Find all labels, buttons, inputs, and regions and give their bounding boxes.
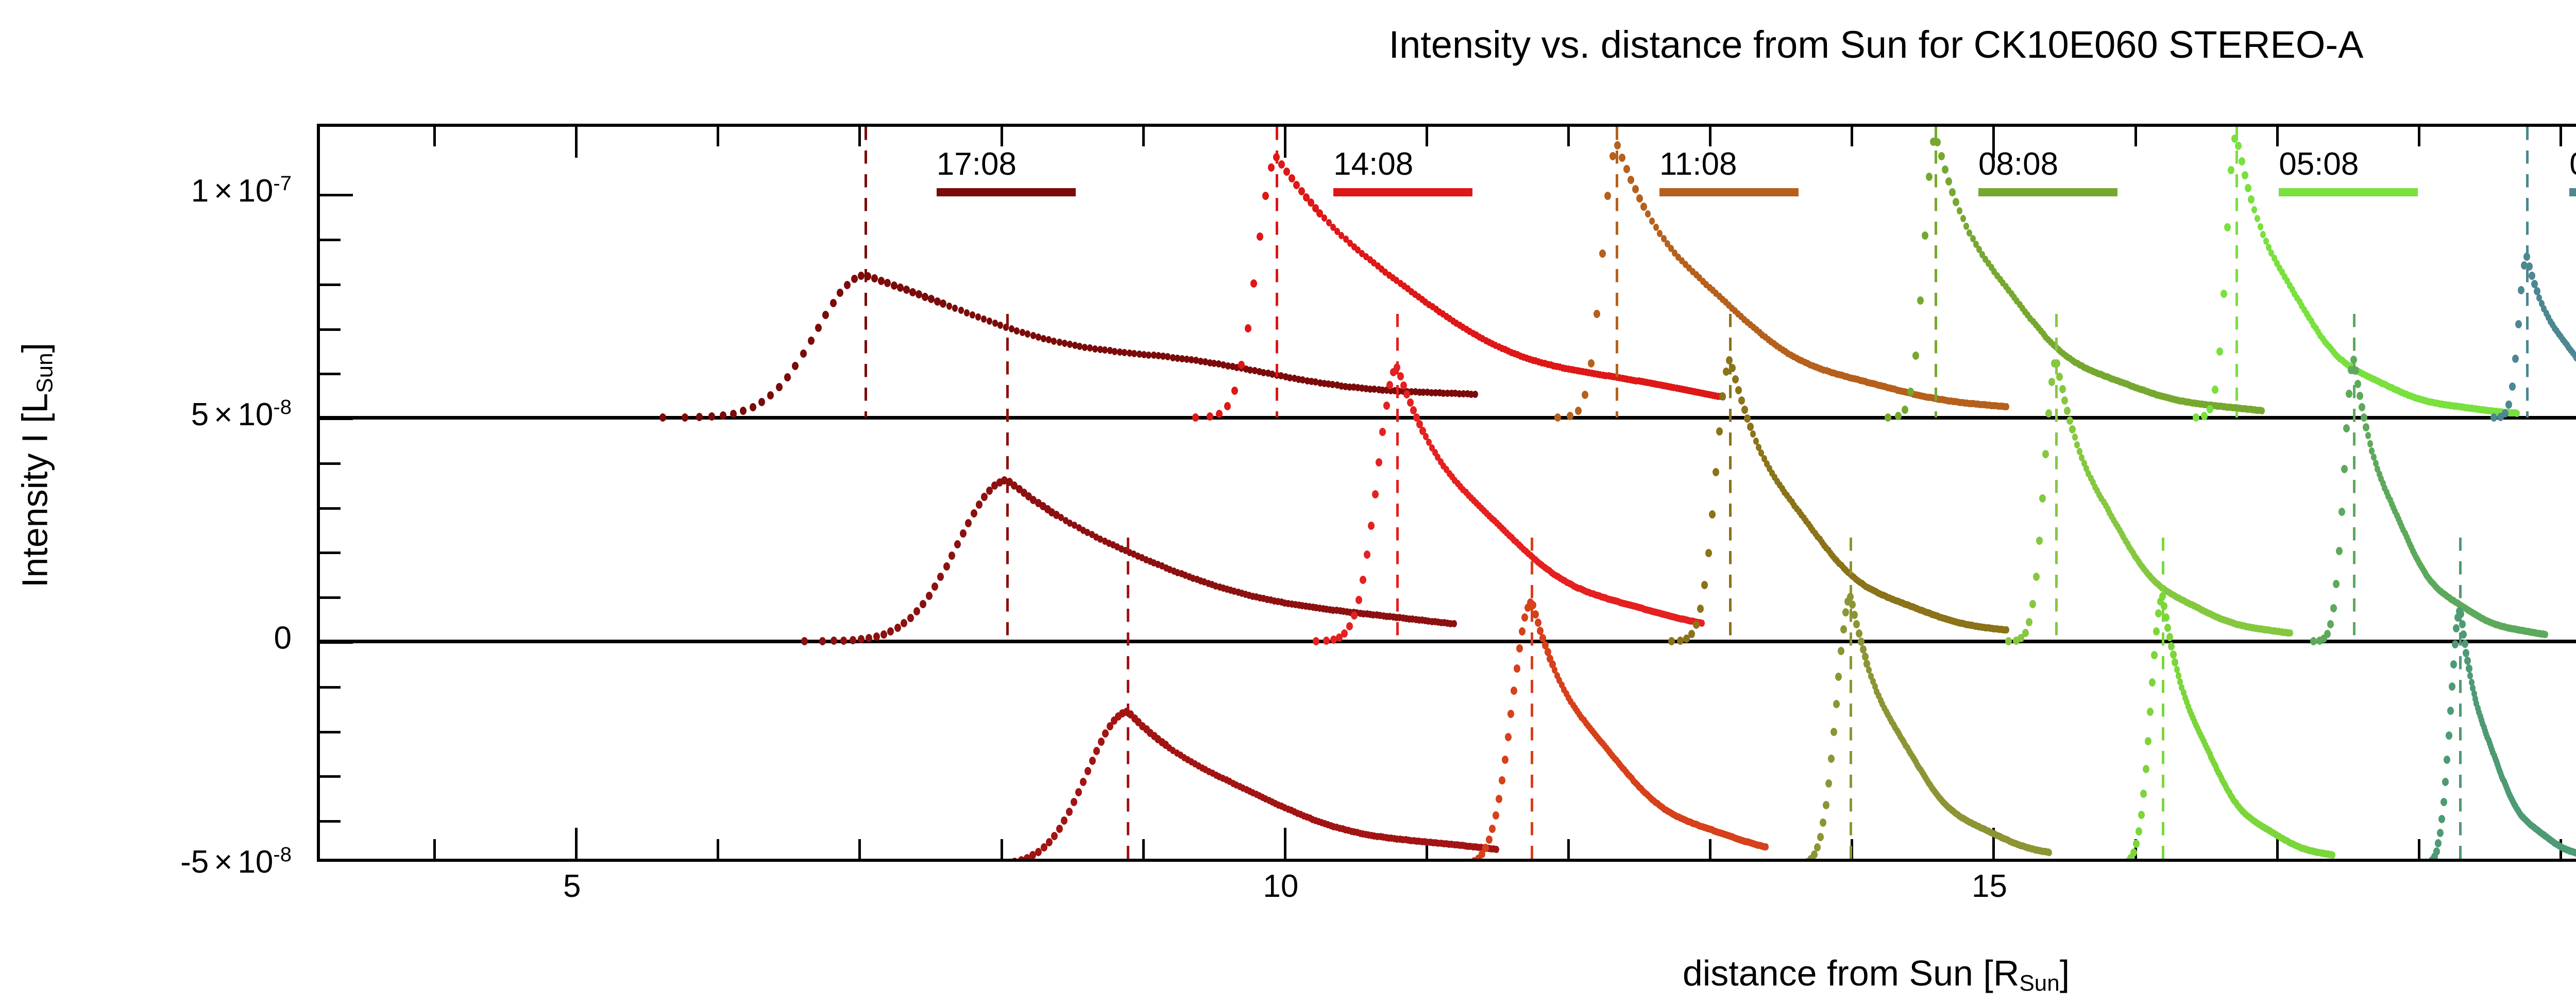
data-point <box>2259 407 2265 414</box>
data-point <box>1609 152 1616 160</box>
data-point <box>1885 413 1891 422</box>
data-point <box>913 607 920 615</box>
data-point <box>1505 733 1512 741</box>
event-label-time: 08:08 <box>1978 146 2058 182</box>
data-point <box>1537 627 1544 635</box>
event-label-underline <box>1333 188 1472 196</box>
data-point <box>907 614 914 622</box>
data-point <box>819 637 826 645</box>
data-point <box>1726 356 1733 364</box>
data-point <box>1953 198 1959 206</box>
data-point <box>1231 387 1238 395</box>
data-point <box>1360 576 1366 584</box>
data-point <box>2502 409 2509 417</box>
data-point <box>758 398 765 406</box>
y-minor-tick <box>320 775 341 778</box>
data-point <box>958 307 964 314</box>
data-point <box>1604 192 1611 200</box>
x-minor-tick-top <box>1851 127 1853 146</box>
data-point <box>2509 382 2516 391</box>
data-point <box>1716 427 1723 436</box>
x-major-tick <box>1284 828 1286 859</box>
data-point <box>2216 347 2223 356</box>
data-point <box>1747 423 1754 431</box>
data-point <box>2026 618 2032 626</box>
data-point <box>2066 416 2073 425</box>
data-point <box>2248 195 2255 204</box>
data-point <box>2427 859 2433 862</box>
data-point <box>2458 610 2464 618</box>
data-point <box>1535 619 1541 627</box>
data-point <box>1447 861 1454 862</box>
data-point <box>1649 218 1655 225</box>
data-point <box>1632 185 1639 193</box>
data-point <box>1554 413 1561 422</box>
data-point <box>2359 403 2365 411</box>
data-point <box>2255 215 2260 222</box>
data-point <box>1922 231 1928 240</box>
event-marker-line <box>1616 127 1618 417</box>
event-label-time: 17:08 <box>937 146 1016 182</box>
data-point <box>2523 253 2530 261</box>
data-point <box>1486 836 1493 844</box>
data-point <box>1089 757 1096 765</box>
data-point <box>2059 385 2066 393</box>
data-point <box>2346 390 2352 398</box>
event-label: 02:08 <box>2569 148 2576 180</box>
data-point <box>952 305 958 312</box>
y-major-tick <box>320 194 353 196</box>
data-point <box>2352 366 2359 375</box>
data-point <box>1840 625 1847 633</box>
data-point <box>1250 279 1257 288</box>
data-point <box>2133 840 2140 848</box>
x-minor-tick-top <box>2276 127 2279 146</box>
data-point <box>901 619 907 627</box>
data-point <box>1323 637 1330 645</box>
data-point <box>1507 710 1514 718</box>
data-point <box>991 860 997 862</box>
data-point <box>2153 627 2160 636</box>
data-point <box>822 311 829 319</box>
data-point <box>1496 795 1502 803</box>
data-point <box>931 582 938 591</box>
data-point <box>1709 510 1716 519</box>
data-point <box>1102 729 1109 738</box>
data-point <box>2022 629 2029 637</box>
data-point <box>2056 373 2063 381</box>
data-point <box>1934 138 1941 146</box>
data-point <box>1014 327 1020 335</box>
data-point <box>1093 747 1100 755</box>
x-axis-label: distance from Sun [RSun] <box>0 953 2576 996</box>
page-title: Intensity vs. distance from Sun for CK10… <box>0 23 2576 66</box>
data-point <box>2260 231 2266 238</box>
data-point <box>2111 861 2118 862</box>
data-point <box>2490 413 2497 422</box>
data-point <box>1949 188 1956 196</box>
data-point <box>865 272 871 280</box>
data-point <box>1397 372 1404 380</box>
data-point <box>2239 157 2245 165</box>
data-point <box>1907 388 1914 396</box>
data-point <box>1788 861 1795 862</box>
data-point <box>1494 846 1499 853</box>
event-label-underline <box>1978 188 2117 196</box>
data-point <box>1895 412 1902 420</box>
event-marker-line <box>1127 538 1129 862</box>
data-point <box>891 281 897 290</box>
data-point <box>2333 580 2340 588</box>
data-point <box>1493 811 1499 820</box>
data-point <box>970 311 975 319</box>
data-point <box>887 627 894 636</box>
data-point <box>1701 581 1708 589</box>
y-minor-tick <box>320 686 341 689</box>
data-point <box>1835 673 1842 681</box>
data-point <box>1025 330 1030 338</box>
data-point <box>2447 707 2454 715</box>
data-point <box>1519 627 1526 636</box>
data-point <box>1036 333 1041 341</box>
data-point <box>2069 425 2076 433</box>
data-point <box>2155 609 2162 617</box>
data-point <box>1820 819 1826 827</box>
x-minor-tick-top <box>2134 127 2137 146</box>
data-point <box>1051 338 1057 345</box>
x-minor-tick-top <box>1567 127 1570 146</box>
x-minor-tick <box>2418 839 2420 859</box>
data-point <box>1902 406 1908 414</box>
data-point <box>1594 310 1600 318</box>
data-point <box>2464 657 2471 665</box>
x-tick-label-group: 510152025 <box>317 868 2576 914</box>
data-point <box>1511 687 1517 695</box>
data-point <box>2207 405 2213 413</box>
data-point <box>1833 700 1840 708</box>
data-point <box>992 320 998 327</box>
x-minor-tick-top <box>858 127 861 146</box>
data-point <box>730 410 737 418</box>
data-point <box>2221 290 2227 298</box>
data-point <box>792 362 799 370</box>
chart-root: Intensity vs. distance from Sun for CK10… <box>0 0 2576 1002</box>
data-point <box>897 283 904 292</box>
data-point <box>1697 605 1704 613</box>
data-point <box>1456 860 1463 862</box>
data-point <box>844 281 851 289</box>
data-point <box>2145 737 2151 745</box>
x-minor-tick <box>2276 839 2279 859</box>
data-point <box>1056 825 1063 833</box>
data-point <box>1098 738 1105 746</box>
data-point <box>2515 320 2522 328</box>
x-major-tick <box>575 828 578 859</box>
y-minor-tick <box>320 239 341 241</box>
data-point <box>2462 640 2468 648</box>
data-point <box>982 860 989 862</box>
data-point <box>840 637 847 645</box>
y-tick-label: 0 <box>274 620 309 657</box>
data-point <box>851 275 858 283</box>
data-point <box>2048 378 2055 386</box>
event-label-underline <box>1659 188 1799 196</box>
data-point <box>2357 392 2363 400</box>
data-point <box>1005 859 1012 862</box>
event-marker-line <box>2162 538 2164 862</box>
x-minor-tick <box>717 839 719 859</box>
data-point <box>2433 847 2440 856</box>
y-minor-tick <box>320 596 341 599</box>
y-major-tick <box>320 417 353 420</box>
data-point <box>2330 851 2335 859</box>
x-minor-tick <box>1709 839 1711 859</box>
data-point <box>1245 324 1251 332</box>
data-point <box>1645 210 1651 218</box>
data-point <box>850 636 856 644</box>
data-point <box>2287 629 2293 637</box>
data-point <box>1466 859 1473 862</box>
data-point <box>2505 400 2512 409</box>
event-label-time: 14:08 <box>1333 146 1413 182</box>
data-point <box>1057 339 1062 346</box>
y-minor-tick <box>320 462 341 465</box>
data-point <box>971 509 977 517</box>
data-point <box>1062 340 1067 347</box>
data-point <box>1723 368 1730 376</box>
data-point <box>1763 843 1769 850</box>
data-point <box>1071 798 1077 806</box>
data-point <box>800 349 807 358</box>
data-point <box>708 412 715 421</box>
data-point <box>2336 547 2343 555</box>
data-point <box>2437 829 2444 837</box>
data-point <box>976 500 982 509</box>
y-tick-label: -5×10-8 <box>180 843 309 880</box>
data-point <box>2033 573 2040 581</box>
data-point <box>2441 798 2447 806</box>
data-point <box>1847 593 1854 601</box>
data-point <box>1849 600 1856 609</box>
data-point <box>2245 184 2251 192</box>
data-point <box>1744 414 1751 423</box>
data-point <box>1030 332 1036 339</box>
data-point <box>682 413 688 422</box>
data-point <box>926 592 933 600</box>
data-point <box>1688 630 1695 638</box>
event-marker-line <box>1531 538 1533 862</box>
data-point <box>2327 620 2334 628</box>
data-point <box>2421 860 2428 862</box>
data-point <box>2343 424 2350 432</box>
data-point <box>2438 815 2445 823</box>
data-point <box>1257 232 1263 241</box>
data-point <box>2324 630 2331 638</box>
data-point <box>1838 647 1844 655</box>
reference-line-1 <box>320 640 2576 643</box>
data-point <box>1046 838 1053 846</box>
data-point <box>1628 176 1634 184</box>
data-point <box>2350 356 2357 364</box>
data-point <box>1379 428 1386 436</box>
data-point <box>2512 355 2519 363</box>
data-point <box>801 637 808 645</box>
data-point <box>1341 629 1348 638</box>
data-point <box>1842 608 1849 616</box>
data-point <box>2061 396 2068 405</box>
data-point <box>2039 494 2046 503</box>
data-point <box>2354 380 2361 388</box>
data-point <box>2338 508 2345 516</box>
y-minor-tick <box>320 820 341 823</box>
data-point <box>1075 788 1082 796</box>
data-point <box>1619 154 1625 162</box>
data-point <box>981 493 988 501</box>
y-minor-tick <box>320 373 341 375</box>
data-point <box>1699 620 1705 627</box>
data-point <box>2526 262 2533 271</box>
data-point <box>871 274 878 282</box>
data-point <box>2361 413 2367 422</box>
data-point <box>1823 801 1829 809</box>
data-point <box>1268 163 1275 172</box>
data-point <box>1262 192 1269 200</box>
data-point <box>2444 756 2450 764</box>
event-marker-line <box>2235 127 2238 417</box>
data-point <box>2151 651 2158 659</box>
data-point <box>2450 660 2457 669</box>
data-point <box>1795 860 1802 862</box>
data-point <box>2518 286 2524 294</box>
data-point <box>1278 160 1285 169</box>
x-tick-label: 15 <box>1972 868 2007 905</box>
data-point <box>1729 364 1736 372</box>
data-point <box>920 600 926 608</box>
data-point <box>1521 613 1528 622</box>
event-marker-line <box>1935 127 1937 417</box>
data-point <box>1011 858 1018 862</box>
data-point <box>1828 755 1835 763</box>
data-point <box>880 630 887 639</box>
event-marker-line <box>1276 127 1278 417</box>
data-point <box>2163 613 2170 622</box>
x-major-tick-top <box>1284 127 1286 158</box>
event-label-underline <box>2279 188 2418 196</box>
data-point <box>2466 664 2472 673</box>
y-tick-label-group: 1×10-75×10-80-5×10-8 <box>0 124 309 862</box>
data-point <box>1858 638 1865 646</box>
data-point <box>2416 861 2423 862</box>
data-point <box>2435 839 2442 847</box>
data-point <box>1394 363 1400 372</box>
event-marker-line <box>2459 538 2462 862</box>
data-point <box>2004 626 2009 633</box>
data-point <box>1713 468 1719 476</box>
data-point <box>1532 610 1539 619</box>
data-point <box>873 632 880 641</box>
data-point <box>837 289 843 297</box>
data-point <box>2424 860 2431 862</box>
data-point <box>894 624 901 632</box>
data-point <box>1599 249 1606 258</box>
data-point <box>1668 637 1675 645</box>
data-point <box>2168 642 2175 650</box>
data-point <box>2310 637 2317 645</box>
data-point <box>954 540 961 548</box>
data-point <box>1960 215 1966 222</box>
data-point <box>2042 450 2049 458</box>
data-point <box>1636 194 1643 203</box>
event-label-underline <box>2569 188 2576 196</box>
data-point <box>878 277 885 285</box>
data-point <box>946 303 952 310</box>
data-point <box>1514 664 1520 673</box>
data-point <box>960 529 967 538</box>
event-marker-line <box>1850 538 1852 862</box>
data-point <box>2074 441 2080 448</box>
data-point <box>998 860 1005 862</box>
data-point <box>2341 465 2348 473</box>
data-point <box>831 637 837 645</box>
data-point <box>2235 142 2242 150</box>
y-major-tick <box>320 641 353 644</box>
event-label-time: 11:08 <box>1659 146 1737 182</box>
data-point <box>1192 413 1199 422</box>
data-point <box>1800 860 1807 862</box>
data-point <box>2164 624 2171 632</box>
event-label: 17:08 <box>937 148 1016 180</box>
x-tick-label: 10 <box>1263 868 1298 905</box>
data-point <box>1926 173 1933 181</box>
y-tick-label: 5×10-8 <box>191 396 309 433</box>
data-point <box>2459 620 2466 628</box>
data-point <box>903 286 910 294</box>
data-point <box>965 519 972 527</box>
x-minor-tick-top <box>1426 127 1428 146</box>
data-point <box>981 315 987 323</box>
data-point <box>2367 440 2373 447</box>
data-point <box>975 313 981 321</box>
plot-area: 17:0814:0811:0808:0805:0802:0823:0820:08… <box>317 124 2576 862</box>
data-point <box>2363 423 2369 431</box>
data-point <box>2143 765 2149 773</box>
x-minor-tick <box>858 839 861 859</box>
data-point <box>1853 620 1860 628</box>
data-point <box>1224 402 1231 410</box>
data-point <box>2193 413 2199 422</box>
data-point <box>1640 203 1647 211</box>
data-point <box>1489 825 1496 833</box>
event-label: 11:08 <box>1659 148 1737 180</box>
data-point <box>1814 843 1821 851</box>
event-marker-line <box>2526 127 2529 417</box>
x-minor-tick <box>1142 839 1145 859</box>
x-minor-tick <box>1001 839 1003 859</box>
data-point <box>1825 779 1832 788</box>
data-point <box>1741 406 1748 414</box>
data-point <box>2449 682 2455 691</box>
data-point <box>1383 402 1390 410</box>
data-point <box>2064 407 2071 415</box>
data-point <box>740 407 747 415</box>
x-minor-tick-top <box>1001 127 1003 146</box>
data-point <box>964 309 970 316</box>
data-point <box>2467 672 2473 679</box>
data-point <box>1817 833 1824 841</box>
data-point <box>1575 407 1582 415</box>
event-label-underline <box>937 188 1076 196</box>
data-point <box>1451 620 1457 627</box>
